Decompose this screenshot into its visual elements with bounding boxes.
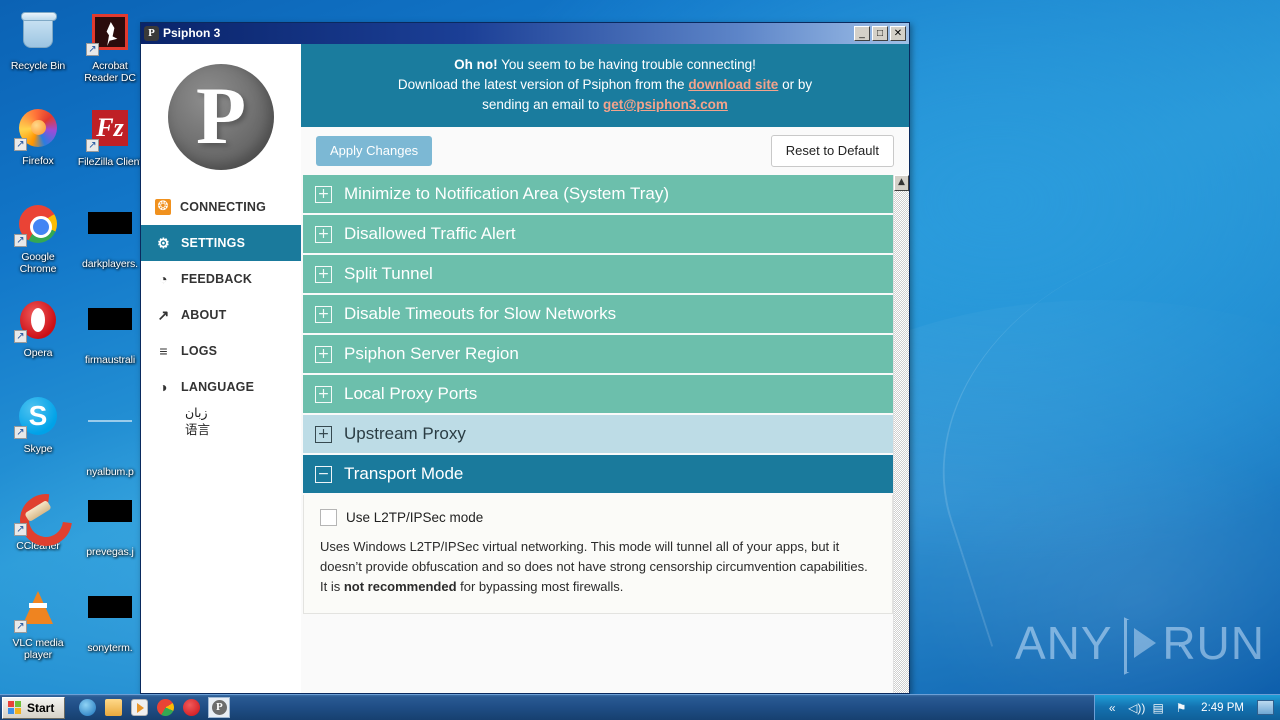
shortcut-arrow-icon: ↗ — [14, 234, 27, 247]
setting-row-label: Disallowed Traffic Alert — [344, 215, 516, 253]
support-email-link[interactable]: get@psiphon3.com — [603, 97, 728, 112]
redacted-thumbnail-icon — [86, 596, 134, 640]
sidebar-item-label: CONNECTING — [180, 189, 266, 225]
network-warning-icon[interactable]: ▤ — [1151, 701, 1165, 715]
chrome-icon[interactable] — [157, 699, 174, 716]
shortcut-arrow-icon: ↗ — [14, 330, 27, 343]
desktop-icon-label: Firefox — [4, 155, 72, 167]
sidebar-item-label: SETTINGS — [181, 225, 245, 261]
desktop-icon-label: darkplayers. — [76, 258, 144, 270]
vlc-cone-icon: ↗ — [14, 591, 62, 635]
language-option-chinese[interactable]: 语言 — [141, 422, 301, 439]
apply-changes-button[interactable]: Apply Changes — [316, 136, 432, 166]
banner-line1: You seem to be having trouble connecting… — [498, 57, 756, 72]
desktop-icon-skype[interactable]: ↗ Skype — [4, 394, 72, 455]
expand-plus-icon: + — [315, 186, 332, 203]
window-title: Psiphon 3 — [163, 23, 854, 44]
desktop-icon-google-chrome[interactable]: ↗ Google Chrome — [4, 202, 72, 275]
sidebar-item-about[interactable]: ↗ ABOUT — [141, 297, 301, 333]
watermark-text-right: RUN — [1162, 620, 1265, 666]
setting-row-label: Split Tunnel — [344, 255, 433, 293]
desktop-icon-sonyterm[interactable]: sonyterm. — [76, 586, 144, 654]
chrome-icon: ↗ — [14, 205, 62, 249]
start-button[interactable]: Start — [2, 697, 65, 719]
sidebar-nav: ❂ CONNECTING ⚙ SETTINGS ◔ FEEDBACK ↗ ABO… — [141, 189, 301, 439]
acrobat-reader-icon: ↗ — [86, 14, 134, 58]
start-button-label: Start — [27, 698, 54, 718]
banner-line2-before: Download the latest version of Psiphon f… — [398, 77, 688, 92]
rocket-icon: ↗ — [155, 308, 172, 322]
shortcut-arrow-icon: ↗ — [86, 43, 99, 56]
skype-icon: ↗ — [14, 397, 62, 441]
setting-row-disallowed-traffic-alert[interactable]: + Disallowed Traffic Alert — [303, 215, 893, 253]
transport-mode-description: Uses Windows L2TP/IPSec virtual networki… — [320, 537, 876, 597]
taskbar-button-psiphon[interactable]: P — [208, 697, 230, 718]
setting-row-split-tunnel[interactable]: + Split Tunnel — [303, 255, 893, 293]
desktop-icon-prevegas[interactable]: prevegas.j — [76, 490, 144, 558]
l2tp-checkbox[interactable] — [320, 509, 337, 526]
sidebar-item-label: ABOUT — [181, 297, 226, 333]
l2tp-checkbox-row[interactable]: Use L2TP/IPSec mode — [320, 509, 876, 526]
window-controls: _ □ ✕ — [854, 26, 909, 41]
setting-row-label: Transport Mode — [344, 455, 463, 493]
play-triangle-icon — [1121, 617, 1155, 669]
banner-line2-after: or by — [778, 77, 812, 92]
setting-row-minimize-to-tray[interactable]: + Minimize to Notification Area (System … — [303, 175, 893, 213]
quick-launch-bar — [79, 699, 200, 716]
desktop-icon-label: VLC media player — [4, 637, 72, 661]
sidebar-item-feedback[interactable]: ◔ FEEDBACK — [141, 261, 301, 297]
app-sidebar: P ❂ CONNECTING ⚙ SETTINGS ◔ FEEDBACK ↗ — [141, 44, 301, 693]
desktop-icon-label: Opera — [4, 347, 72, 359]
opera-icon: ↗ — [14, 301, 62, 345]
expand-plus-icon: + — [315, 266, 332, 283]
file-thumbnail-icon — [86, 420, 134, 464]
desktop-icon-ccleaner[interactable]: ↗ CCleaner — [4, 490, 72, 552]
sidebar-item-label: FEEDBACK — [181, 261, 252, 297]
maximize-button[interactable]: □ — [872, 26, 888, 41]
internet-explorer-icon[interactable] — [79, 699, 96, 716]
desc-part-2: for bypassing most firewalls. — [457, 579, 624, 594]
connection-error-banner: Oh no! You seem to be having trouble con… — [301, 44, 909, 127]
shortcut-arrow-icon: ↗ — [14, 138, 27, 151]
windows-taskbar: Start P « ◁)) ▤ ⚑ 2:49 PM — [0, 694, 1280, 720]
desktop-icon-label: Google Chrome — [4, 251, 72, 275]
firefox-icon: ↗ — [14, 109, 62, 153]
psiphon-app-icon: P — [144, 26, 159, 41]
speech-bubble-icon: ◔ — [155, 272, 172, 286]
setting-row-label: Local Proxy Ports — [344, 375, 477, 413]
desktop-icon-nyalbum[interactable]: nyalbum.p — [76, 394, 144, 478]
list-icon: ≡ — [155, 344, 172, 358]
setting-row-transport-mode[interactable]: − Transport Mode — [303, 455, 893, 493]
sidebar-item-connecting[interactable]: ❂ CONNECTING — [141, 189, 301, 225]
desc-emphasis: not recommended — [344, 579, 457, 594]
setting-row-label: Disable Timeouts for Slow Networks — [344, 295, 616, 333]
expand-plus-icon: + — [315, 306, 332, 323]
expand-plus-icon: + — [315, 426, 332, 443]
taskbar-clock[interactable]: 2:49 PM — [1197, 695, 1248, 720]
desktop-icon-label: Acrobat Reader DC — [76, 60, 144, 84]
setting-row-upstream-proxy[interactable]: + Upstream Proxy — [303, 415, 893, 453]
recycle-bin-icon — [14, 14, 62, 58]
expand-plus-icon: + — [315, 346, 332, 363]
windows-flag-icon — [8, 701, 23, 715]
language-option-persian[interactable]: زبان — [141, 405, 301, 422]
redacted-thumbnail-icon — [86, 308, 134, 352]
desktop-icon-firmaustrali[interactable]: firmaustrali — [76, 298, 144, 366]
desktop-icon-label: firmaustrali — [76, 354, 144, 366]
settings-scrollbar[interactable]: ▲ — [893, 175, 909, 693]
expand-plus-icon: + — [315, 386, 332, 403]
reset-to-default-button[interactable]: Reset to Default — [771, 135, 894, 167]
globe-icon: ◑ — [155, 380, 172, 394]
desktop-icon-vlc[interactable]: ↗ VLC media player — [4, 586, 72, 661]
minimize-button[interactable]: _ — [854, 26, 870, 41]
desktop-icon-opera[interactable]: ↗ Opera — [4, 298, 72, 359]
settings-area: + Minimize to Notification Area (System … — [301, 175, 909, 693]
show-desktop-button[interactable] — [1257, 700, 1274, 715]
collapse-minus-icon: − — [315, 466, 332, 483]
download-site-link[interactable]: download site — [688, 77, 778, 92]
desktop-icon-label: prevegas.j — [76, 546, 144, 558]
shortcut-arrow-icon: ↗ — [86, 139, 99, 152]
banner-lead: Oh no! — [454, 57, 498, 72]
setting-row-local-proxy-ports[interactable]: + Local Proxy Ports — [303, 375, 893, 413]
setting-row-label: Psiphon Server Region — [344, 335, 519, 373]
setting-row-label: Minimize to Notification Area (System Tr… — [344, 175, 669, 213]
desktop-icon-label: Skype — [4, 443, 72, 455]
spinner-icon: ❂ — [155, 199, 171, 215]
gear-icon: ⚙ — [155, 236, 172, 250]
shortcut-arrow-icon: ↗ — [14, 620, 27, 633]
folder-icon[interactable] — [105, 699, 122, 716]
setting-row-label: Upstream Proxy — [344, 415, 466, 453]
media-player-icon[interactable] — [131, 699, 148, 716]
expand-plus-icon: + — [315, 226, 332, 243]
setting-row-disable-timeouts[interactable]: + Disable Timeouts for Slow Networks — [303, 295, 893, 333]
sidebar-item-label: LOGS — [181, 333, 217, 369]
desktop-icon-firefox[interactable]: ↗ Firefox — [4, 106, 72, 167]
desktop-icon-darkplayers[interactable]: darkplayers. — [76, 202, 144, 270]
filezilla-icon: Fz↗ — [86, 110, 134, 154]
transport-mode-panel: Use L2TP/IPSec mode Uses Windows L2TP/IP… — [303, 495, 893, 614]
desktop-icon-label: FileZilla Client — [76, 156, 144, 168]
opera-icon[interactable] — [183, 699, 200, 716]
sidebar-item-settings[interactable]: ⚙ SETTINGS — [141, 225, 301, 261]
settings-toolbar: Apply Changes Reset to Default — [301, 127, 909, 175]
desktop-curve-1 — [889, 203, 1280, 647]
volume-icon[interactable]: ◁)) — [1128, 701, 1142, 715]
system-tray: « ◁)) ▤ ⚑ 2:49 PM — [1094, 695, 1280, 720]
flag-icon[interactable]: ⚑ — [1174, 701, 1188, 715]
sidebar-item-logs[interactable]: ≡ LOGS — [141, 333, 301, 369]
redacted-thumbnail-icon — [86, 212, 134, 256]
app-content: Oh no! You seem to be having trouble con… — [301, 44, 909, 693]
close-button[interactable]: ✕ — [890, 26, 906, 41]
desktop-icon-label: sonyterm. — [76, 642, 144, 654]
desktop-icon-acrobat-reader[interactable]: ↗ Acrobat Reader DC — [76, 10, 144, 84]
scroll-up-button[interactable]: ▲ — [894, 175, 909, 191]
psiphon-logo: P — [141, 44, 301, 189]
banner-line3-before: sending an email to — [482, 97, 603, 112]
l2tp-checkbox-label: Use L2TP/IPSec mode — [346, 509, 483, 526]
window-titlebar[interactable]: P Psiphon 3 _ □ ✕ — [141, 23, 909, 44]
psiphon-window: P Psiphon 3 _ □ ✕ P ❂ CONNECTING ⚙ SETTI… — [140, 22, 910, 694]
desktop-icon-recycle-bin[interactable]: Recycle Bin — [4, 10, 72, 72]
sidebar-item-language[interactable]: ◑ LANGUAGE — [141, 369, 301, 405]
show-hidden-icons-icon[interactable]: « — [1105, 701, 1119, 715]
desktop-icon-label: Recycle Bin — [4, 60, 72, 72]
sidebar-item-label: LANGUAGE — [181, 369, 254, 405]
ccleaner-icon: ↗ — [14, 494, 62, 538]
redacted-thumbnail-icon — [86, 500, 134, 544]
psiphon-taskbar-icon: P — [212, 700, 227, 715]
setting-row-psiphon-server-region[interactable]: + Psiphon Server Region — [303, 335, 893, 373]
desktop-icon-filezilla[interactable]: Fz↗ FileZilla Client — [76, 106, 144, 168]
shortcut-arrow-icon: ↗ — [14, 426, 27, 439]
psiphon-logo-letter: P — [168, 64, 274, 170]
desktop-icon-label: nyalbum.p — [76, 466, 144, 478]
shortcut-arrow-icon: ↗ — [14, 523, 27, 536]
settings-accordion: + Minimize to Notification Area (System … — [301, 175, 893, 693]
